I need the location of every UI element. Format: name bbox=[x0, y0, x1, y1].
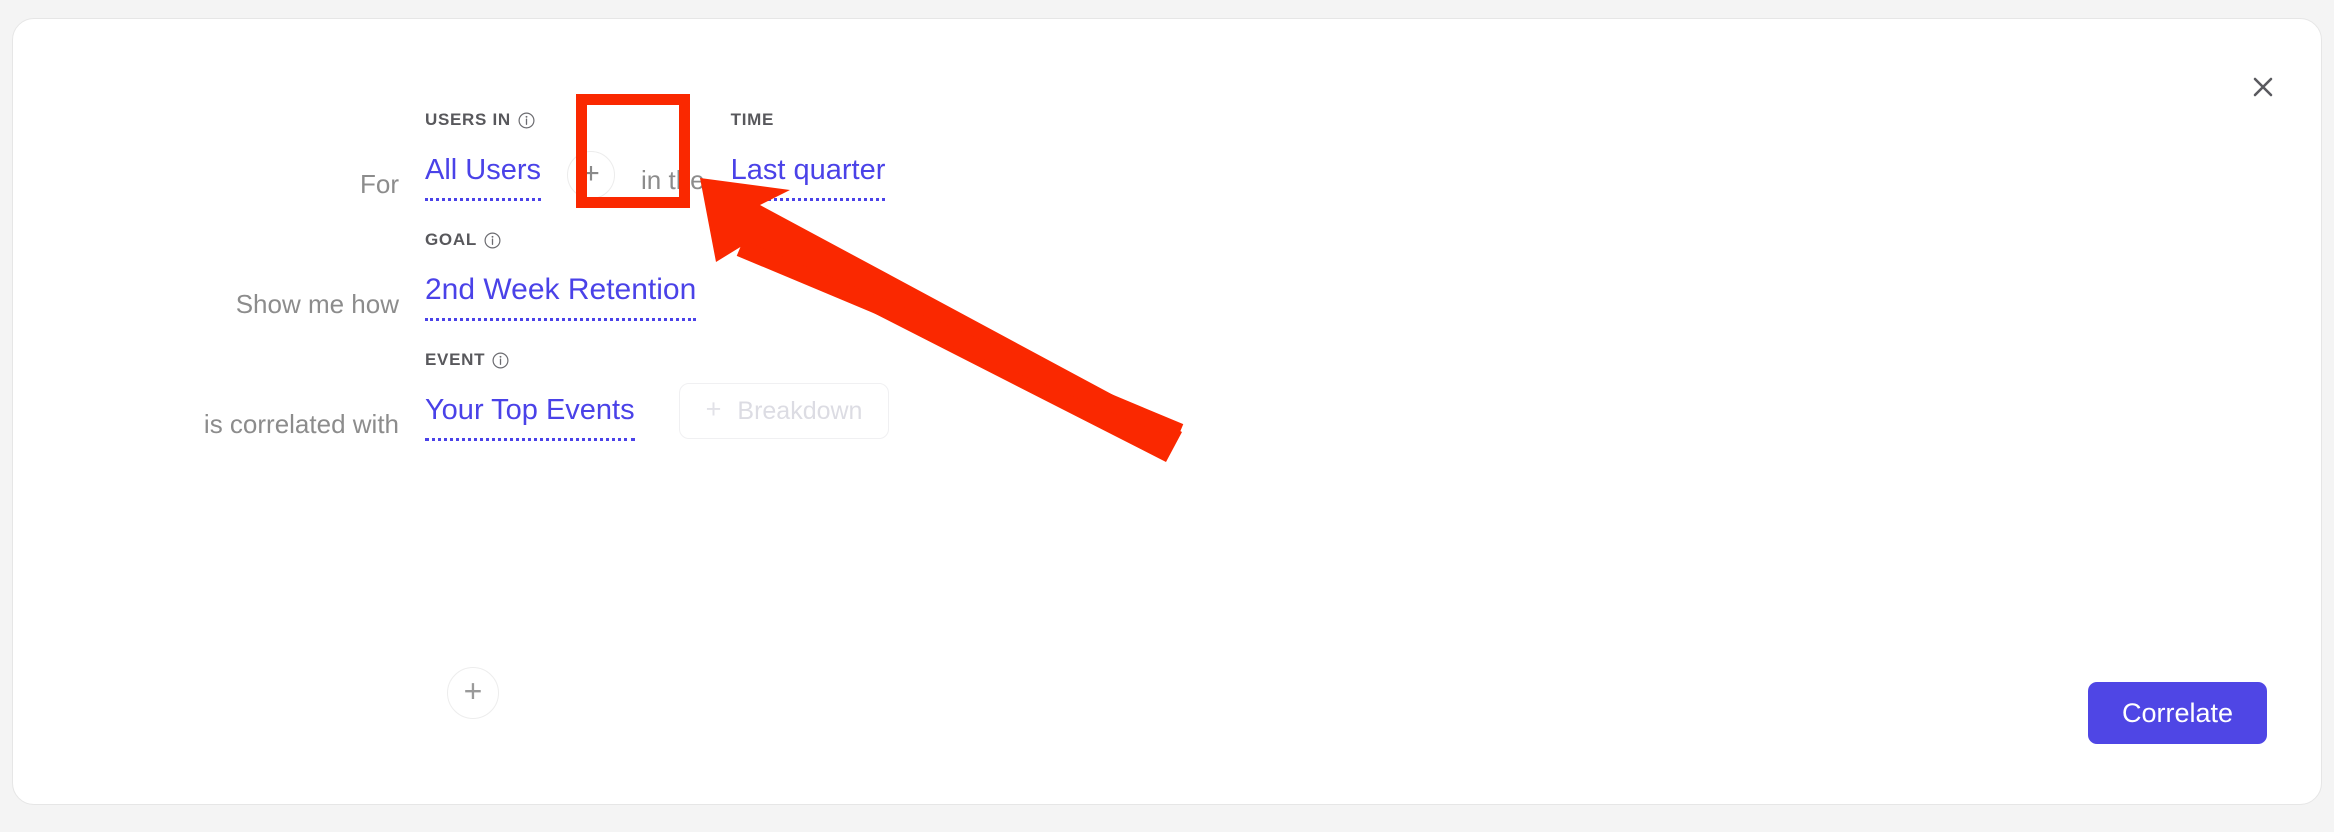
builder-row-users: For USERS IN All Users bbox=[13, 145, 885, 201]
builder-row-event: is correlated with EVENT Your Top Event bbox=[13, 385, 889, 441]
caption-text: TIME bbox=[731, 110, 774, 130]
goal-value[interactable]: 2nd Week Retention bbox=[425, 272, 696, 321]
info-icon[interactable] bbox=[518, 112, 535, 129]
users-in-value[interactable]: All Users bbox=[425, 152, 541, 201]
breakdown-label: Breakdown bbox=[737, 399, 862, 424]
close-icon bbox=[2249, 73, 2277, 101]
row-prefix-show-me-how: Show me how bbox=[13, 287, 399, 321]
field-event: EVENT Your Top Events bbox=[425, 392, 635, 441]
row-prefix-for: For bbox=[13, 167, 399, 201]
field-time: TIME Last quarter bbox=[731, 152, 886, 201]
field-caption-goal: GOAL bbox=[425, 230, 501, 250]
screen: For USERS IN All Users bbox=[0, 0, 2334, 832]
time-value[interactable]: Last quarter bbox=[731, 152, 886, 201]
correlate-button[interactable]: Correlate bbox=[2088, 682, 2267, 744]
info-icon[interactable] bbox=[492, 352, 509, 369]
add-user-filter-button[interactable]: + bbox=[567, 151, 615, 199]
add-breakdown-button[interactable]: + Breakdown bbox=[679, 383, 890, 439]
add-step-button[interactable]: + bbox=[447, 667, 499, 719]
connector-in-the: in the bbox=[641, 163, 705, 197]
field-caption-time: TIME bbox=[731, 110, 774, 130]
plus-icon: + bbox=[464, 675, 483, 707]
caption-text: USERS IN bbox=[425, 110, 511, 130]
info-icon[interactable] bbox=[484, 232, 501, 249]
field-caption-event: EVENT bbox=[425, 350, 509, 370]
row-prefix-is-correlated-with: is correlated with bbox=[13, 407, 399, 441]
caption-text: EVENT bbox=[425, 350, 485, 370]
field-goal: GOAL 2nd Week Retention bbox=[425, 272, 696, 321]
plus-icon: + bbox=[582, 159, 600, 189]
correlation-builder-card: For USERS IN All Users bbox=[12, 18, 2322, 805]
plus-icon: + bbox=[706, 396, 722, 423]
caption-text: GOAL bbox=[425, 230, 477, 250]
field-users-in: USERS IN All Users bbox=[425, 152, 541, 201]
field-caption-users-in: USERS IN bbox=[425, 110, 535, 130]
event-value[interactable]: Your Top Events bbox=[425, 392, 635, 441]
builder-row-goal: Show me how GOAL 2nd Week Retention bbox=[13, 265, 696, 321]
close-button[interactable] bbox=[2241, 65, 2285, 109]
